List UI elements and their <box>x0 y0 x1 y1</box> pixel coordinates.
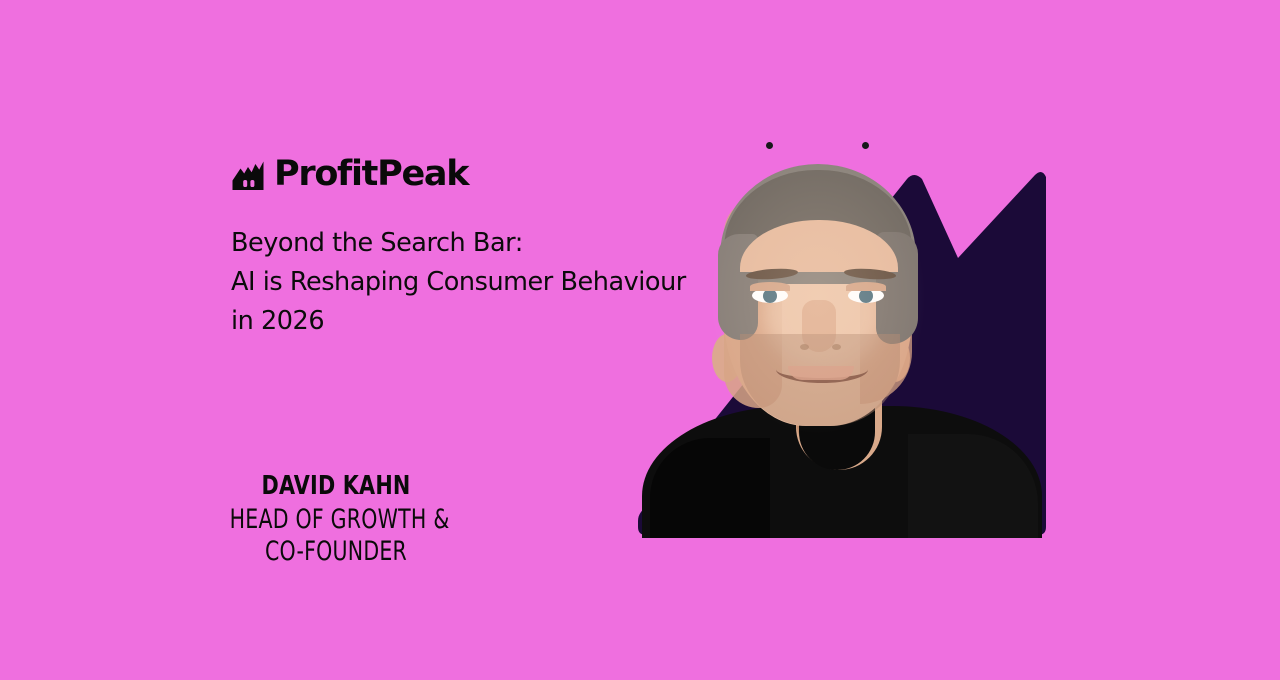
speaker-credit-block: DAVID KAHN HEAD OF GROWTH & CO-FOUNDER <box>196 471 476 568</box>
promo-card: ProfitPeak Beyond the Search Bar: AI is … <box>0 0 1280 680</box>
speaker-name: DAVID KAHN <box>224 471 448 501</box>
portrait-pupil-right <box>862 142 869 149</box>
speaker-portrait <box>636 138 1048 538</box>
portrait-pupil-left <box>766 142 773 149</box>
portrait-eyelid-left <box>750 282 790 291</box>
portrait-lower-lip <box>788 366 854 380</box>
speaker-role-line-1: HEAD OF GROWTH & <box>230 504 443 536</box>
hero-visual <box>636 138 1048 538</box>
portrait-eyelid-right <box>846 282 886 291</box>
speaker-role: HEAD OF GROWTH & CO-FOUNDER <box>230 504 443 568</box>
brand-wordmark: ProfitPeak <box>274 157 468 192</box>
speaker-role-line-2: CO-FOUNDER <box>230 536 443 568</box>
portrait-iris-left <box>763 289 777 303</box>
portrait-iris-right <box>859 289 873 303</box>
portrait-artwork <box>636 138 1048 538</box>
mountain-chart-icon <box>231 160 265 191</box>
